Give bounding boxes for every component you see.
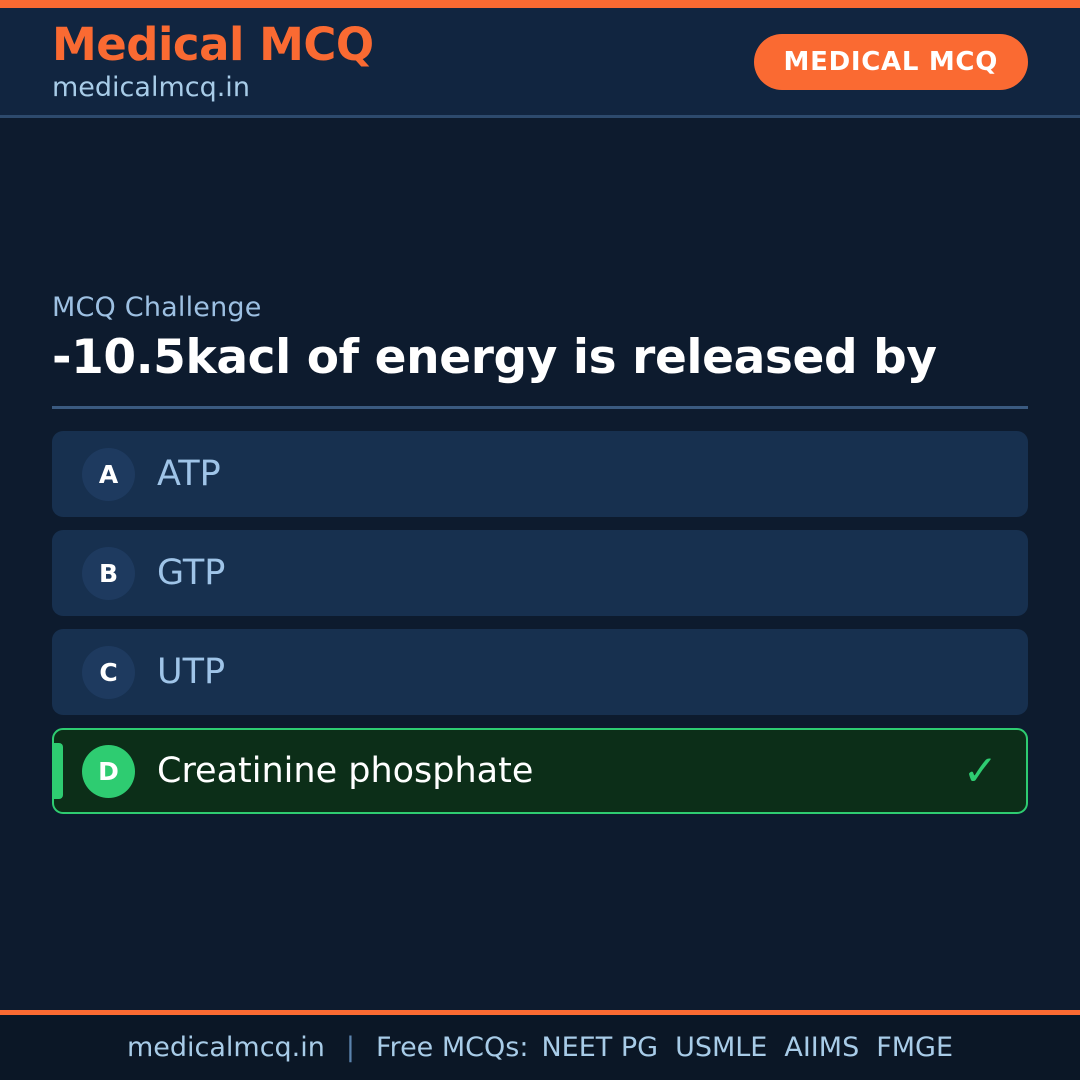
top-accent-bar: [0, 0, 1080, 8]
option-c-label: UTP: [157, 652, 225, 692]
option-a-key: A: [82, 448, 135, 501]
footer-separator: |: [338, 1032, 363, 1063]
footer-exam-aiims: AIIMS: [784, 1032, 859, 1063]
brand-title: Medical MCQ: [52, 22, 374, 67]
option-a[interactable]: A ATP ✓: [52, 431, 1028, 517]
footer-exam-usmle: USMLE: [675, 1032, 767, 1063]
mcq-card: Medical MCQ medicalmcq.in MEDICAL MCQ MC…: [0, 0, 1080, 1080]
option-c[interactable]: C UTP ✓: [52, 629, 1028, 715]
check-icon: ✓: [963, 750, 998, 792]
options-list: A ATP ✓ B GTP ✓ C UTP ✓ D Creati: [52, 431, 1028, 814]
option-b-key: B: [82, 547, 135, 600]
brand: Medical MCQ medicalmcq.in: [52, 22, 374, 101]
option-a-label: ATP: [157, 454, 221, 494]
footer-prefix: Free MCQs:: [376, 1032, 528, 1063]
eyebrow-label: MCQ Challenge: [52, 292, 1028, 323]
page-header: Medical MCQ medicalmcq.in MEDICAL MCQ: [0, 8, 1080, 118]
footer-exam-neetpg: NEET PG: [541, 1032, 658, 1063]
footer-exam-list: NEET PG USMLE AIIMS FMGE: [541, 1032, 953, 1063]
footer-site: medicalmcq.in: [127, 1032, 325, 1063]
option-c-key: C: [82, 646, 135, 699]
question-divider: [52, 406, 1028, 409]
brand-subtitle: medicalmcq.in: [52, 74, 374, 101]
question-text: -10.5kacl of energy is released by: [52, 332, 1028, 385]
option-d-key: D: [82, 745, 135, 798]
option-b[interactable]: B GTP ✓: [52, 530, 1028, 616]
main-content: MCQ Challenge -10.5kacl of energy is rel…: [0, 118, 1080, 1010]
correct-accent-bar: [54, 743, 63, 799]
option-d-label: Creatinine phosphate: [157, 751, 533, 791]
header-badge: MEDICAL MCQ: [754, 34, 1028, 90]
page-footer: medicalmcq.in | Free MCQs: NEET PG USMLE…: [0, 1010, 1080, 1080]
option-d-correct[interactable]: D Creatinine phosphate ✓: [52, 728, 1028, 814]
option-b-label: GTP: [157, 553, 225, 593]
footer-exam-fmge: FMGE: [876, 1032, 953, 1063]
